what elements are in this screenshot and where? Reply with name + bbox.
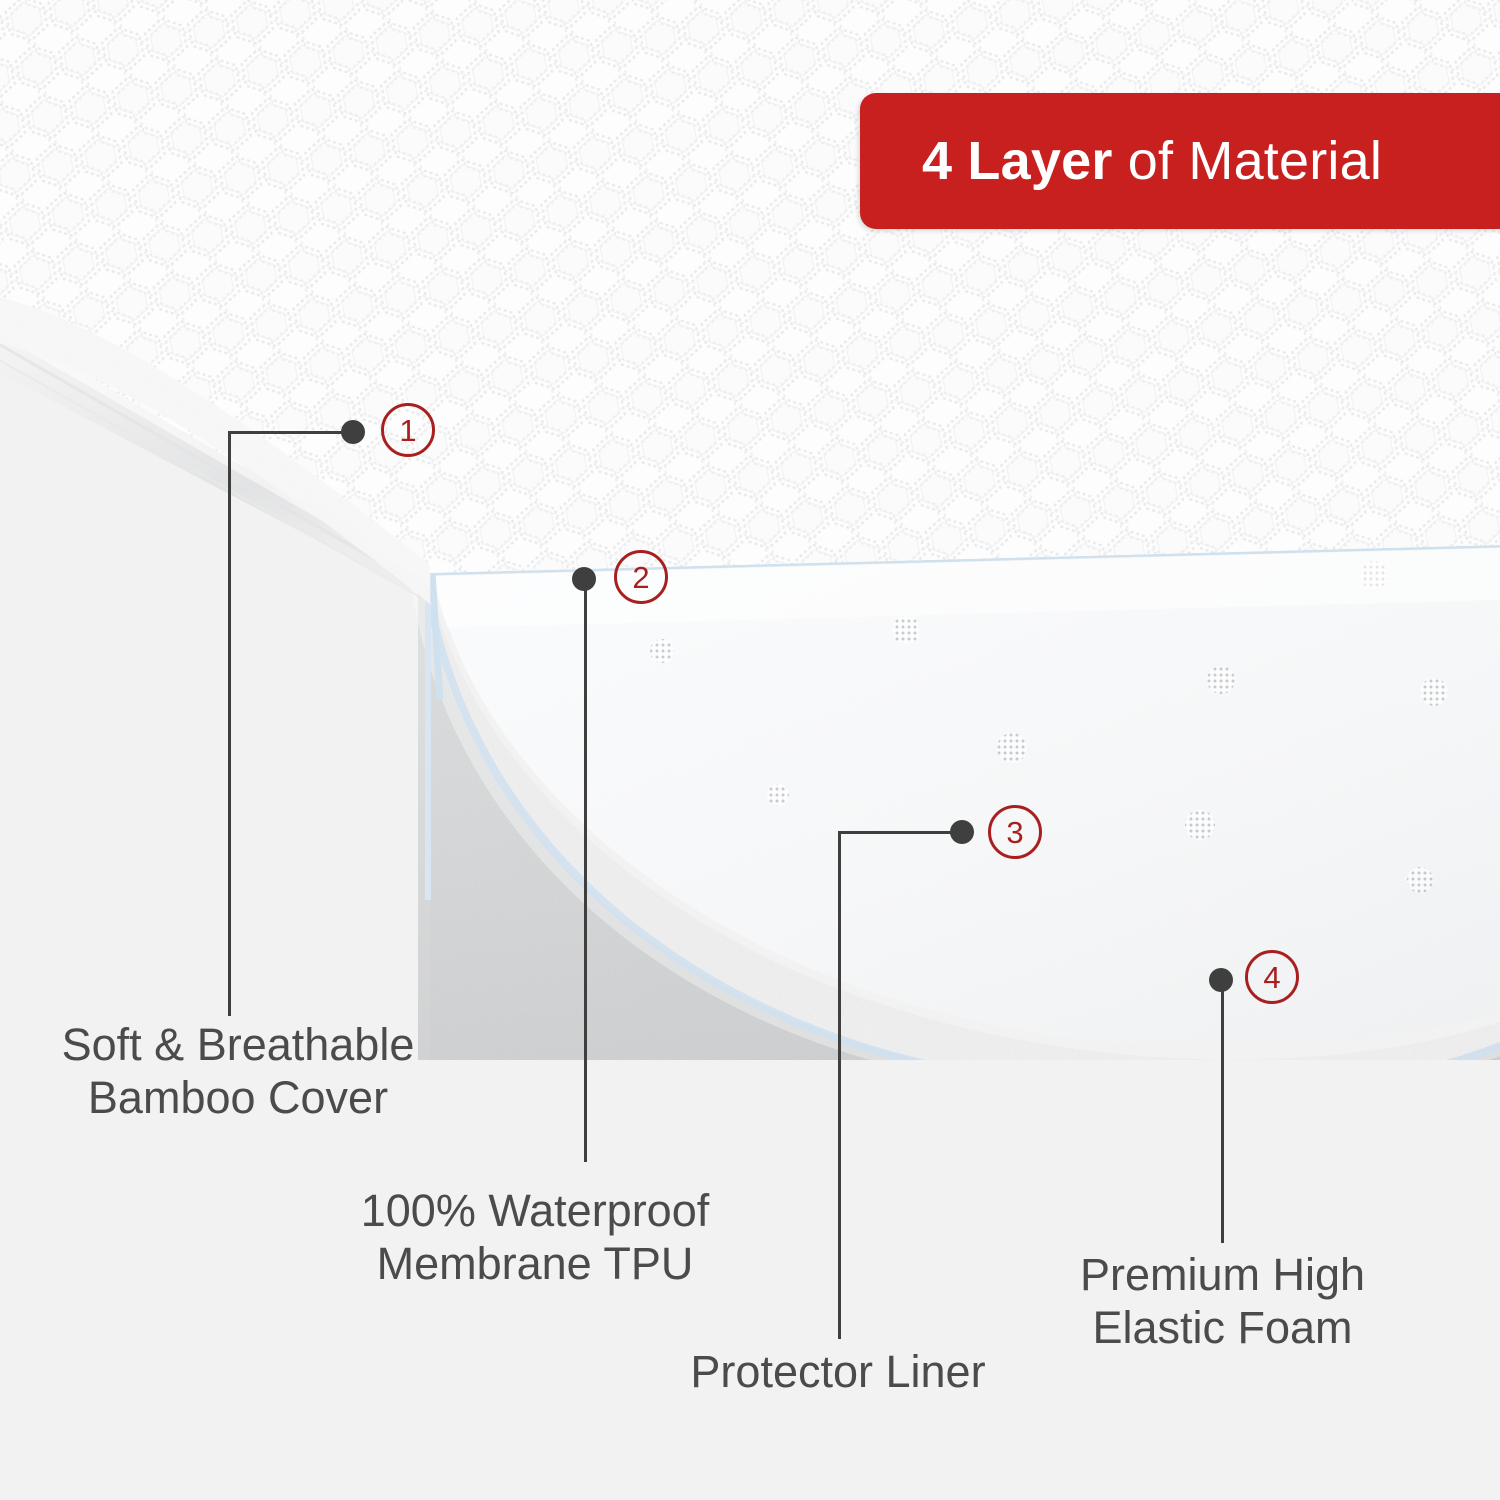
banner-4-layer: 4 Layer of Material: [860, 93, 1500, 229]
leader-line-3-horizontal: [838, 831, 966, 834]
leader-line-1-vertical: [228, 431, 231, 1016]
callout-number-1: 1: [381, 403, 435, 457]
leader-line-1-horizontal: [228, 431, 356, 434]
leader-line-3-vertical: [838, 831, 841, 1339]
callout-label-3: Protector Liner: [668, 1345, 1008, 1398]
callout-label-1-line1: Soft & Breathable: [62, 1019, 415, 1070]
callout-label-3-line1: Protector Liner: [690, 1346, 985, 1397]
banner-title: 4 Layer of Material: [922, 130, 1382, 192]
callout-label-2-line1: 100% Waterproof: [361, 1185, 710, 1236]
callout-label-2: 100% Waterproof Membrane TPU: [340, 1184, 730, 1290]
callout-number-4: 4: [1245, 950, 1299, 1004]
banner-title-bold: 4 Layer: [922, 131, 1113, 191]
callout-label-4-line2: Elastic Foam: [1092, 1302, 1352, 1353]
callout-dot-4: [1209, 968, 1233, 992]
callout-label-1: Soft & Breathable Bamboo Cover: [48, 1018, 428, 1124]
callout-dot-2: [572, 567, 596, 591]
leader-line-2-vertical: [584, 578, 587, 1162]
callout-dot-3: [950, 820, 974, 844]
leader-line-4-vertical: [1221, 979, 1224, 1243]
callout-number-2: 2: [614, 550, 668, 604]
infographic-canvas: 4 Layer of Material 1 Soft & Breathable …: [0, 0, 1500, 1500]
callout-label-4-line1: Premium High: [1080, 1249, 1365, 1300]
banner-title-normal: of Material: [1113, 131, 1383, 191]
callout-dot-1: [341, 420, 365, 444]
callout-label-4: Premium High Elastic Foam: [1060, 1248, 1385, 1354]
callout-number-3: 3: [988, 805, 1042, 859]
callout-label-2-line2: Membrane TPU: [377, 1238, 694, 1289]
callout-label-1-line2: Bamboo Cover: [88, 1072, 388, 1123]
